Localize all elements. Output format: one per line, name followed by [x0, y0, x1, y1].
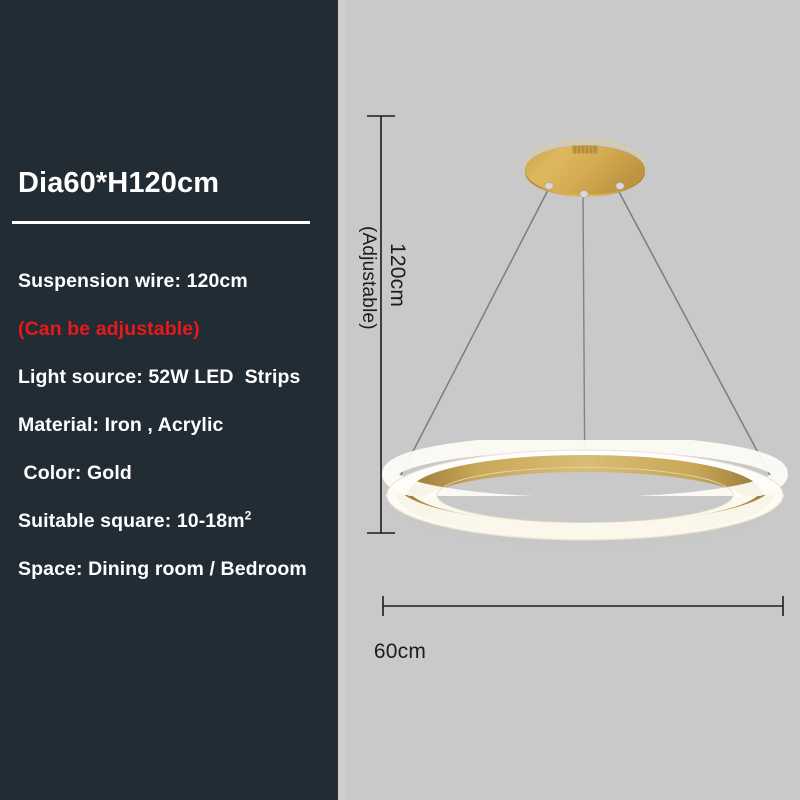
spec-line: Light source: 52W LED Strips — [18, 368, 338, 388]
width-dimension-label: 60cm — [0, 640, 800, 664]
specification-panel: Dia60*H120cm Suspension wire: 120cm(Can … — [0, 0, 338, 800]
spec-line: Suspension wire: 120cm — [18, 272, 338, 292]
product-illustration — [338, 0, 800, 800]
spec-line-superscript: 2 — [245, 509, 252, 523]
title-divider — [12, 221, 310, 224]
product-spec-image: Dia60*H120cm Suspension wire: 120cm(Can … — [0, 0, 800, 800]
width-dimension-line — [383, 596, 783, 616]
height-dimension-label: 120cm — [385, 243, 409, 307]
led-ring — [387, 443, 783, 540]
spec-line: Space: Dining room / Bedroom — [18, 560, 338, 580]
spec-line: (Can be adjustable) — [18, 320, 338, 340]
spec-line: Suitable square: 10-18m2 — [18, 512, 338, 532]
page-title: Dia60*H120cm — [18, 167, 219, 200]
canopy-vent — [572, 146, 598, 154]
ceiling-canopy — [525, 141, 645, 197]
height-adjustable-note: (Adjustable) — [357, 226, 379, 330]
spec-line: Material: Iron , Acrylic — [18, 416, 338, 436]
spec-line: Color: Gold — [18, 464, 338, 484]
specification-list: Suspension wire: 120cm(Can be adjustable… — [18, 272, 338, 608]
